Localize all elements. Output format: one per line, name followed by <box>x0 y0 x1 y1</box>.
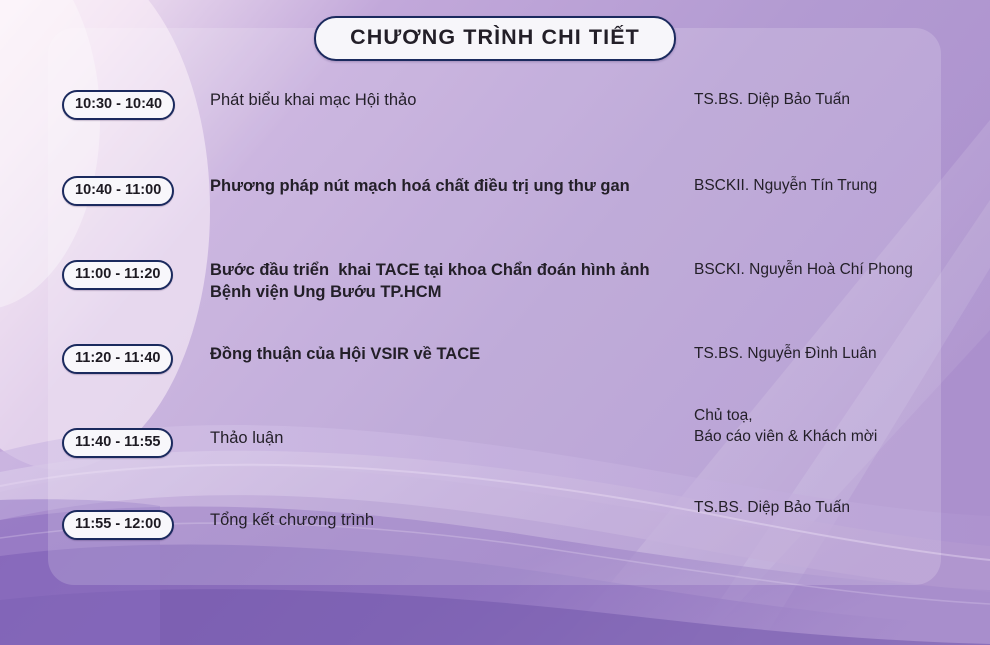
agenda-row: 11:20 - 11:40Đồng thuận của Hội VSIR về … <box>0 344 990 374</box>
speaker-cell: TS.BS. Nguyễn Đình Luân <box>694 344 990 365</box>
title-pill: CHƯƠNG TRÌNH CHI TIẾT <box>314 16 676 61</box>
agenda-row: 11:00 - 11:20Bước đầu triển khai TACE tạ… <box>0 260 990 304</box>
page-title: CHƯƠNG TRÌNH CHI TIẾT <box>0 16 990 61</box>
time-badge: 10:30 - 10:40 <box>62 90 175 120</box>
agenda-row: 11:55 - 12:00Tổng kết chương trìnhTS.BS.… <box>0 510 990 540</box>
topic-cell: Phương pháp nút mạch hoá chất điều trị u… <box>210 176 694 198</box>
time-badge: 10:40 - 11:00 <box>62 176 174 206</box>
speaker-cell: TS.BS. Diệp Bảo Tuấn <box>694 90 990 111</box>
speaker-cell: Chủ toạ, Báo cáo viên & Khách mời <box>694 406 990 447</box>
topic-cell: Bước đầu triển khai TACE tại khoa Chẩn đ… <box>210 260 694 304</box>
agenda-row: 10:30 - 10:40Phát biểu khai mạc Hội thảo… <box>0 90 990 120</box>
topic-cell: Tổng kết chương trình <box>210 510 694 532</box>
time-badge: 11:40 - 11:55 <box>62 428 173 458</box>
time-cell: 11:20 - 11:40 <box>0 344 210 374</box>
time-badge: 11:00 - 11:20 <box>62 260 173 290</box>
topic-cell: Đồng thuận của Hội VSIR về TACE <box>210 344 694 366</box>
page-title-label: CHƯƠNG TRÌNH CHI TIẾT <box>350 25 640 50</box>
agenda-row: 10:40 - 11:00Phương pháp nút mạch hoá ch… <box>0 176 990 206</box>
speaker-cell: BSCKI. Nguyễn Hoà Chí Phong <box>694 260 990 281</box>
time-cell: 10:40 - 11:00 <box>0 176 210 206</box>
time-badge: 11:55 - 12:00 <box>62 510 174 540</box>
topic-cell: Phát biểu khai mạc Hội thảo <box>210 90 694 112</box>
time-cell: 11:00 - 11:20 <box>0 260 210 290</box>
time-badge: 11:20 - 11:40 <box>62 344 173 374</box>
agenda-row: 11:40 - 11:55Thảo luậnChủ toạ, Báo cáo v… <box>0 428 990 458</box>
speaker-cell: BSCKII. Nguyễn Tín Trung <box>694 176 990 197</box>
time-cell: 10:30 - 10:40 <box>0 90 210 120</box>
time-cell: 11:55 - 12:00 <box>0 510 210 540</box>
speaker-cell: TS.BS. Diệp Bảo Tuấn <box>694 498 990 519</box>
time-cell: 11:40 - 11:55 <box>0 428 210 458</box>
topic-cell: Thảo luận <box>210 428 694 450</box>
